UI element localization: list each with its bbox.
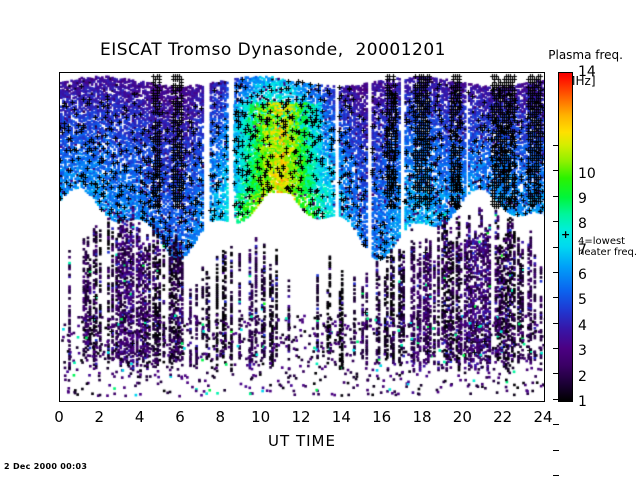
yaxis-tick — [59, 113, 60, 114]
yaxis-minor-tick — [59, 391, 60, 392]
xaxis-tick-top — [141, 72, 142, 73]
yaxis-tick — [59, 401, 60, 402]
xaxis-tick-top — [383, 72, 384, 73]
xaxis-minor-tick — [201, 401, 202, 402]
colorbar-tick-label: 3 — [578, 343, 587, 359]
xaxis-tick-label: 12 — [291, 408, 310, 426]
colorbar-plus-marker: + — [561, 229, 570, 240]
yaxis-minor-tick — [59, 373, 60, 374]
colorbar-tick — [553, 247, 559, 248]
yaxis-minor-tick-right — [544, 391, 545, 392]
yaxis-tick-right — [544, 357, 545, 358]
xaxis-title: UT TIME — [59, 432, 545, 450]
xaxis-minor-tick — [363, 401, 364, 402]
colorbar-tick — [553, 145, 559, 146]
yaxis-minor-tick-right — [544, 218, 545, 219]
colorbar-tick — [553, 450, 559, 451]
xaxis-tick — [383, 401, 384, 402]
yaxis-tick — [59, 252, 60, 253]
yaxis-minor-tick — [59, 323, 60, 324]
xaxis-tick — [221, 401, 222, 402]
xaxis-tick-label: 2 — [95, 408, 105, 426]
xaxis-tick-top — [342, 72, 343, 73]
xaxis-tick — [60, 401, 61, 402]
xaxis-tick-label: 14 — [332, 408, 351, 426]
xaxis-tick-label: 16 — [372, 408, 391, 426]
colorbar-header-line1: Plasma freq. — [548, 48, 623, 62]
xaxis-minor-tick — [282, 401, 283, 402]
xaxis-tick-label: 22 — [493, 408, 512, 426]
colorbar-tick-label: 1 — [578, 394, 587, 410]
xaxis-minor-tick — [242, 401, 243, 402]
yaxis-tick-right — [544, 85, 545, 86]
colorbar-tick-label: 10 — [578, 166, 596, 182]
yaxis-minor-tick-right — [544, 98, 545, 99]
colorbar-tick-label: 4 — [578, 318, 587, 334]
yaxis-tick — [59, 85, 60, 86]
xaxis-tick — [544, 401, 545, 402]
xaxis-tick-top — [504, 72, 505, 73]
colorbar-tick-label: 14 — [578, 64, 596, 80]
xaxis-minor-tick — [80, 401, 81, 402]
colorbar-tick — [553, 297, 559, 298]
xaxis-tick-top — [262, 72, 263, 73]
xaxis-tick — [302, 401, 303, 402]
yaxis-minor-tick-right — [544, 296, 545, 297]
yaxis-minor-tick — [59, 98, 60, 99]
xaxis-tick-label: 6 — [175, 408, 185, 426]
plot-area — [59, 72, 545, 402]
yaxis-minor-tick-right — [544, 373, 545, 374]
xaxis-tick — [423, 401, 424, 402]
yaxis-minor-tick-right — [544, 167, 545, 168]
xaxis-minor-tick — [121, 401, 122, 402]
xaxis-tick-top — [423, 72, 424, 73]
yaxis-tick-right — [544, 147, 545, 148]
colorbar-tick — [553, 221, 559, 222]
colorbar-tick — [553, 272, 559, 273]
xaxis-tick-top — [544, 72, 545, 73]
xaxis-tick-label: 18 — [412, 408, 431, 426]
xaxis-tick-label: 20 — [453, 408, 472, 426]
colorbar-tick-label: 6 — [578, 267, 587, 283]
xaxis-minor-tick — [443, 401, 444, 402]
xaxis-tick-label: 8 — [216, 408, 226, 426]
xaxis-tick — [181, 401, 182, 402]
colorbar-tick — [553, 196, 559, 197]
yaxis-tick-right — [544, 190, 545, 191]
xaxis-tick — [262, 401, 263, 402]
xaxis-tick-top — [60, 72, 61, 73]
yaxis-minor-tick — [59, 73, 60, 74]
colorbar-tick-label: 9 — [578, 191, 587, 207]
dynasonde-plot-page: EISCAT Tromso Dynasonde, 20001201 Plasma… — [0, 0, 640, 480]
footer-timestamp: 2 Dec 2000 00:03 — [4, 462, 87, 471]
xaxis-tick-top — [302, 72, 303, 73]
colorbar-tick — [553, 348, 559, 349]
colorbar-tick — [553, 424, 559, 425]
colorbar-tick-label: 2 — [578, 369, 587, 385]
xaxis-minor-tick — [403, 401, 404, 402]
yaxis-minor-tick — [59, 296, 60, 297]
yaxis-tick — [59, 147, 60, 148]
yaxis-minor-tick — [59, 218, 60, 219]
xaxis-tick-top — [221, 72, 222, 73]
xaxis-tick-label: 24 — [533, 408, 552, 426]
yaxis-minor-tick-right — [544, 323, 545, 324]
yaxis-minor-tick — [59, 129, 60, 130]
yaxis-tick-right — [544, 252, 545, 253]
yaxis-tick-right — [544, 113, 545, 114]
xaxis-minor-tick — [524, 401, 525, 402]
xaxis-tick — [342, 401, 343, 402]
colorbar-tick-label: 7 — [578, 242, 587, 258]
yaxis-minor-tick-right — [544, 129, 545, 130]
colorbar-tick — [553, 170, 559, 171]
xaxis-tick-top — [463, 72, 464, 73]
xaxis-minor-tick — [161, 401, 162, 402]
yaxis-tick — [59, 190, 60, 191]
colorbar-tick — [553, 323, 559, 324]
xaxis-tick-label: 4 — [135, 408, 145, 426]
xaxis-tick — [504, 401, 505, 402]
yaxis-minor-tick — [59, 167, 60, 168]
xaxis-tick — [463, 401, 464, 402]
xaxis-minor-tick — [484, 401, 485, 402]
xaxis-tick-top — [181, 72, 182, 73]
heatmap-canvas — [60, 73, 544, 401]
xaxis-tick-label: 0 — [54, 408, 64, 426]
colorbar-tick — [553, 373, 559, 374]
page-title: EISCAT Tromso Dynasonde, 20001201 — [100, 40, 520, 60]
xaxis-tick — [100, 401, 101, 402]
xaxis-minor-tick — [322, 401, 323, 402]
colorbar-tick-label: 5 — [578, 292, 587, 308]
colorbar-tick — [553, 475, 559, 476]
yaxis-tick — [59, 357, 60, 358]
xaxis-tick-label: 10 — [251, 408, 270, 426]
colorbar-tick — [553, 399, 559, 400]
colorbar-tick-label: 8 — [578, 216, 587, 232]
xaxis-tick-top — [100, 72, 101, 73]
xaxis-tick — [141, 401, 142, 402]
yaxis-minor-tick-right — [544, 73, 545, 74]
yaxis-tick-right — [544, 401, 545, 402]
